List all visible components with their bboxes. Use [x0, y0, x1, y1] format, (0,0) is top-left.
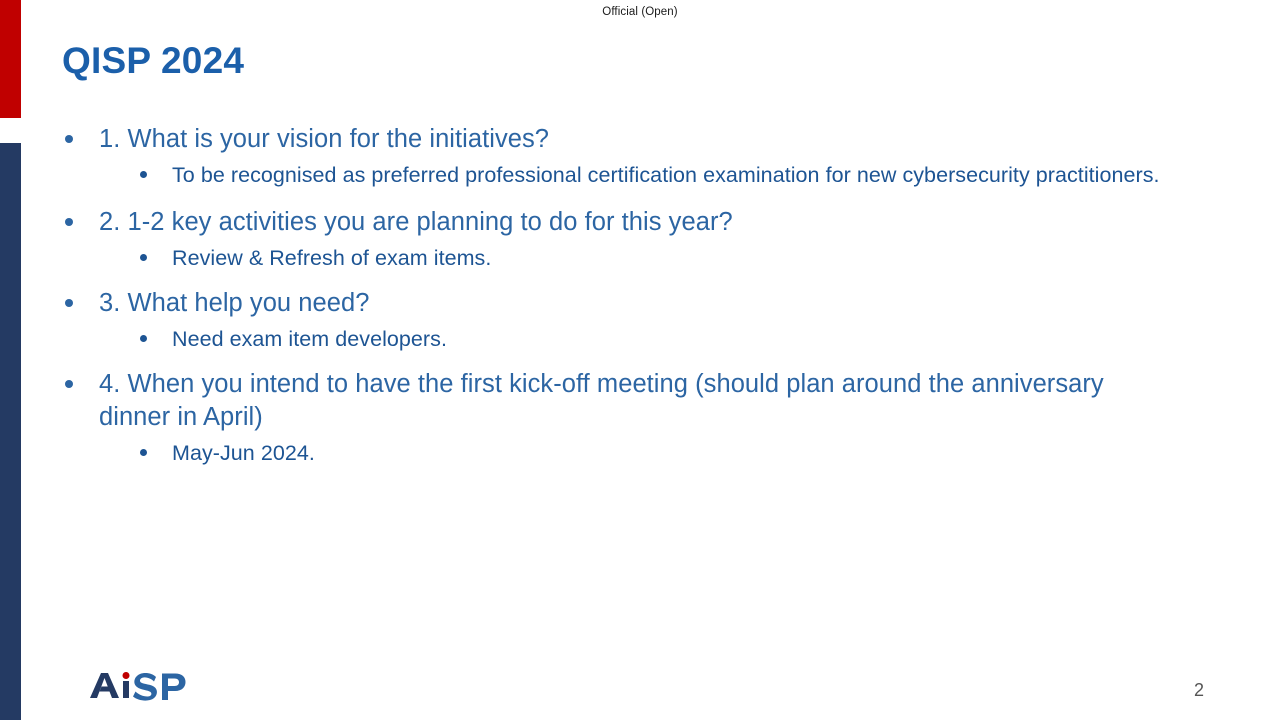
bullet-level1-text: 4. When you intend to have the first kic…: [99, 370, 1104, 431]
page-number: 2: [1194, 680, 1204, 701]
bullet-level2-text: May-Jun 2024.: [172, 441, 315, 465]
bullet-level2-text: Review & Refresh of exam items.: [172, 246, 491, 270]
bullet-level1: 1. What is your vision for the initiativ…: [56, 123, 1176, 156]
bullet-dot-icon: [140, 171, 147, 178]
bullet-level2: Need exam item developers.: [56, 323, 1176, 355]
aisp-logo: [86, 669, 186, 703]
slide-body: 1. What is your vision for the initiativ…: [56, 123, 1176, 471]
bullet-dot-icon: [140, 254, 147, 261]
bullet-dot-icon: [65, 135, 73, 143]
bullet-dot-icon: [140, 449, 147, 456]
decorative-bar-navy: [0, 143, 21, 720]
bullet-level1: 4. When you intend to have the first kic…: [56, 368, 1176, 434]
bullet-level1-text: 3. What help you need?: [99, 289, 369, 317]
bullet-level1-text: 1. What is your vision for the initiativ…: [99, 125, 549, 153]
spacer: [56, 357, 1176, 368]
spacer: [56, 276, 1176, 287]
bullet-dot-icon: [65, 299, 73, 307]
classification-header: Official (Open): [0, 6, 1280, 18]
page-title: QISP 2024: [62, 38, 244, 84]
slide: Official (Open) QISP 2024 1. What is you…: [0, 0, 1280, 720]
bullet-level2-text: To be recognised as preferred profession…: [172, 163, 1160, 187]
bullet-level2-text: Need exam item developers.: [172, 327, 447, 351]
bullet-dot-icon: [140, 335, 147, 342]
bullet-dot-icon: [65, 218, 73, 226]
spacer: [56, 193, 1176, 206]
bullet-level2: Review & Refresh of exam items.: [56, 242, 1176, 274]
bullet-level2: May-Jun 2024.: [56, 437, 1176, 469]
bullet-level1-text: 2. 1-2 key activities you are planning t…: [99, 208, 733, 236]
bullet-level1: 2. 1-2 key activities you are planning t…: [56, 206, 1176, 239]
bullet-level2: To be recognised as preferred profession…: [56, 159, 1176, 191]
bullet-level1: 3. What help you need?: [56, 287, 1176, 320]
bullet-dot-icon: [65, 380, 73, 388]
